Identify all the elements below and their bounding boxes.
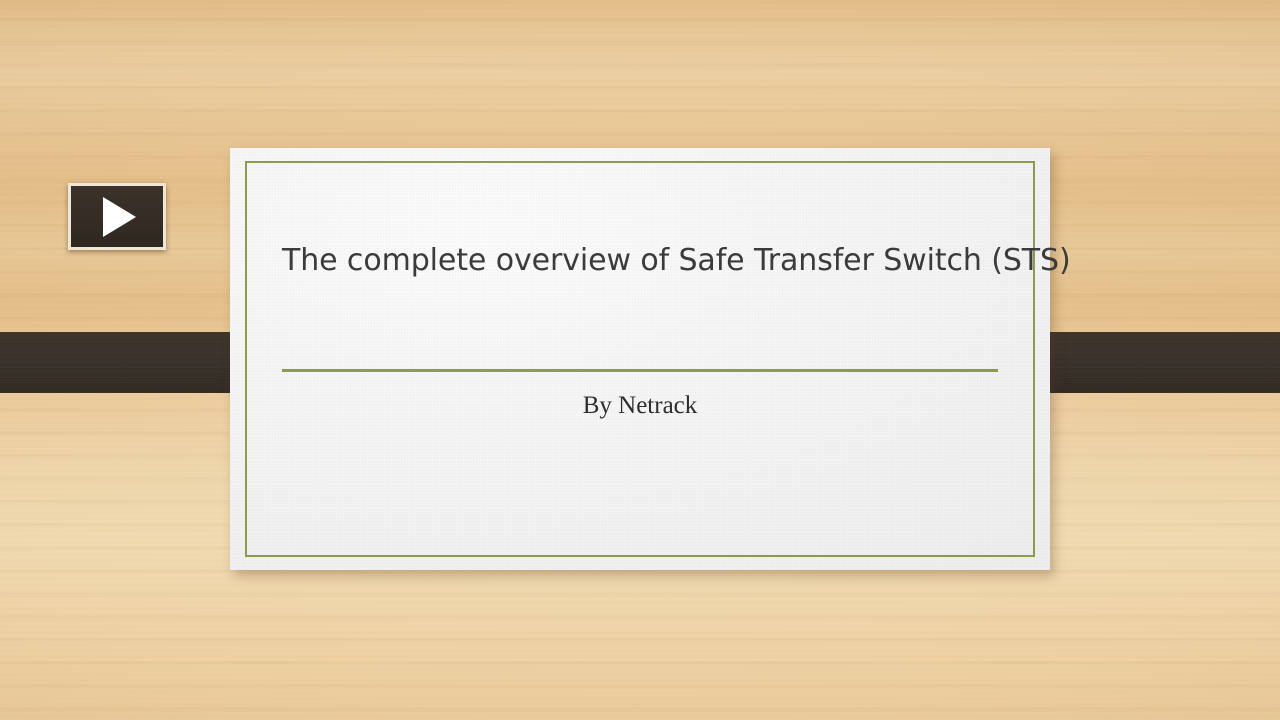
slide-subtitle: By Netrack — [282, 391, 998, 421]
page-title: The complete overview of Safe Transfer S… — [282, 244, 998, 279]
ribbon-band-left — [0, 332, 252, 393]
play-button[interactable] — [68, 183, 166, 250]
ribbon-band-right — [1028, 332, 1280, 393]
presentation-stage: The complete overview of Safe Transfer S… — [0, 0, 1280, 720]
slide-inner-border — [245, 161, 1035, 557]
play-icon — [103, 197, 136, 237]
title-slide: The complete overview of Safe Transfer S… — [230, 148, 1050, 570]
title-divider-rule — [282, 369, 998, 372]
